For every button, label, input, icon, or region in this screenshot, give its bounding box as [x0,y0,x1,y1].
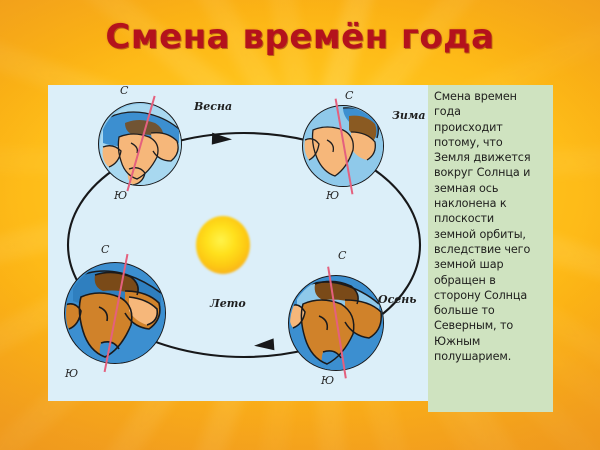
globe-winter-north-label: С [345,89,353,102]
globe-summer-season-label: Лето [210,297,246,310]
globe-autumn-season-label: Осень [378,293,417,306]
globe-summer-north-label: С [101,243,109,256]
explanation-line: происходит [434,120,548,135]
explanation-line: плоскости [434,211,548,226]
globe-autumn-south-label: Ю [321,374,334,387]
explanation-line: земная ось [434,181,548,196]
explanation-line: земной орбиты, [434,227,548,242]
page-title: Смена времён года [0,17,600,57]
slide-root: Смена времён года [0,0,600,450]
explanation-line: года [434,104,548,119]
explanation-line: земной шар [434,257,548,272]
globe-spring [98,102,182,186]
globe-spring-north-label: С [120,85,128,97]
explanation-line: вокруг Солнца и [434,165,548,180]
globe-winter-south-label: Ю [326,189,339,202]
globe-spring-south-label: Ю [114,189,127,202]
explanation-line: наклонена к [434,196,548,211]
explanation-textbox: Смена временгодапроисходитпотому, чтоЗем… [428,85,553,412]
explanation-line: Земля движется [434,150,548,165]
globe-summer-south-label: Ю [65,367,78,380]
sun-icon [196,216,250,274]
explanation-line: больше то [434,303,548,318]
explanation-line: обращен в [434,273,548,288]
explanation-line: полушарием. [434,349,548,364]
explanation-line: вследствие чего [434,242,548,257]
explanation-line: потому, что [434,135,548,150]
explanation-line: Северным, то [434,318,548,333]
explanation-line: сторону Солнца [434,288,548,303]
globe-spring-season-label: Весна [194,100,232,113]
orbit-arrow-bottom [254,338,275,351]
globe-winter-season-label: Зима [392,109,426,122]
explanation-line: Смена времен [434,89,548,104]
explanation-line: Южным [434,334,548,349]
globe-summer [64,262,166,364]
globe-winter [302,105,384,187]
globe-autumn-north-label: С [338,249,346,262]
globe-autumn [288,275,384,371]
